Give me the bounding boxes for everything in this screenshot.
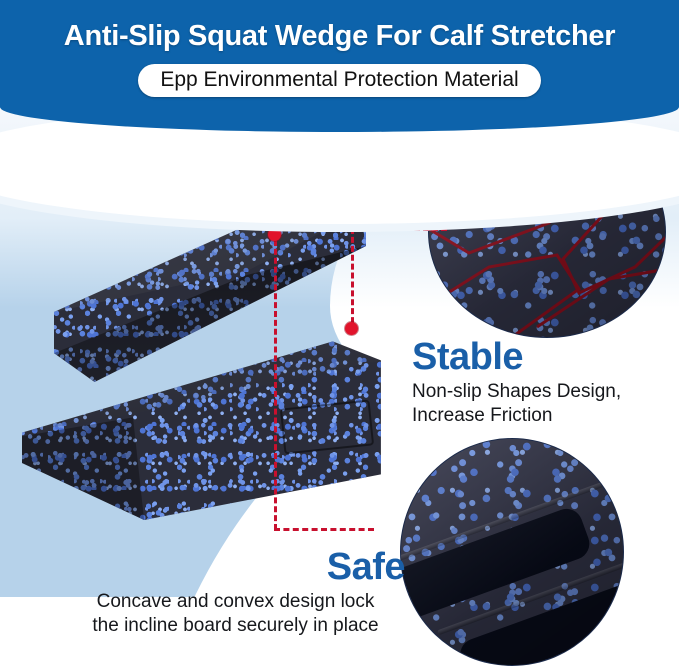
page-title: Anti-Slip Squat Wedge For Calf Stretcher	[0, 20, 679, 53]
header-banner: Anti-Slip Squat Wedge For Calf Stretcher…	[0, 0, 679, 132]
feature-safe-desc-line1: Concave and convex design lock	[38, 590, 433, 614]
feature-safe-title: Safe	[38, 548, 433, 586]
material-badge: Epp Environmental Protection Material	[138, 64, 540, 97]
feature-stable: Stable Non-slip Shapes Design, Increase …	[412, 338, 621, 428]
callout-dot-lower-wedge	[345, 322, 358, 335]
lower-wedge-groove	[280, 399, 374, 454]
feature-stable-title: Stable	[412, 338, 621, 376]
callout-line-vertical-right	[351, 228, 354, 332]
callout-line-vertical-left	[274, 240, 277, 530]
header-inner: Anti-Slip Squat Wedge For Calf Stretcher…	[0, 0, 679, 132]
zoom-circle-concave-convex	[400, 438, 624, 666]
feature-stable-desc-line1: Non-slip Shapes Design,	[412, 380, 621, 404]
feature-stable-desc-line2: Increase Friction	[412, 404, 621, 428]
callout-line-horizontal-bottom	[274, 528, 374, 531]
feature-safe-desc-line2: the incline board securely in place	[38, 614, 433, 638]
product-infographic: Anti-Slip Squat Wedge For Calf Stretcher…	[0, 0, 679, 667]
feature-safe: Safe Concave and convex design lock the …	[38, 548, 433, 638]
badge-container: Epp Environmental Protection Material	[0, 64, 679, 97]
